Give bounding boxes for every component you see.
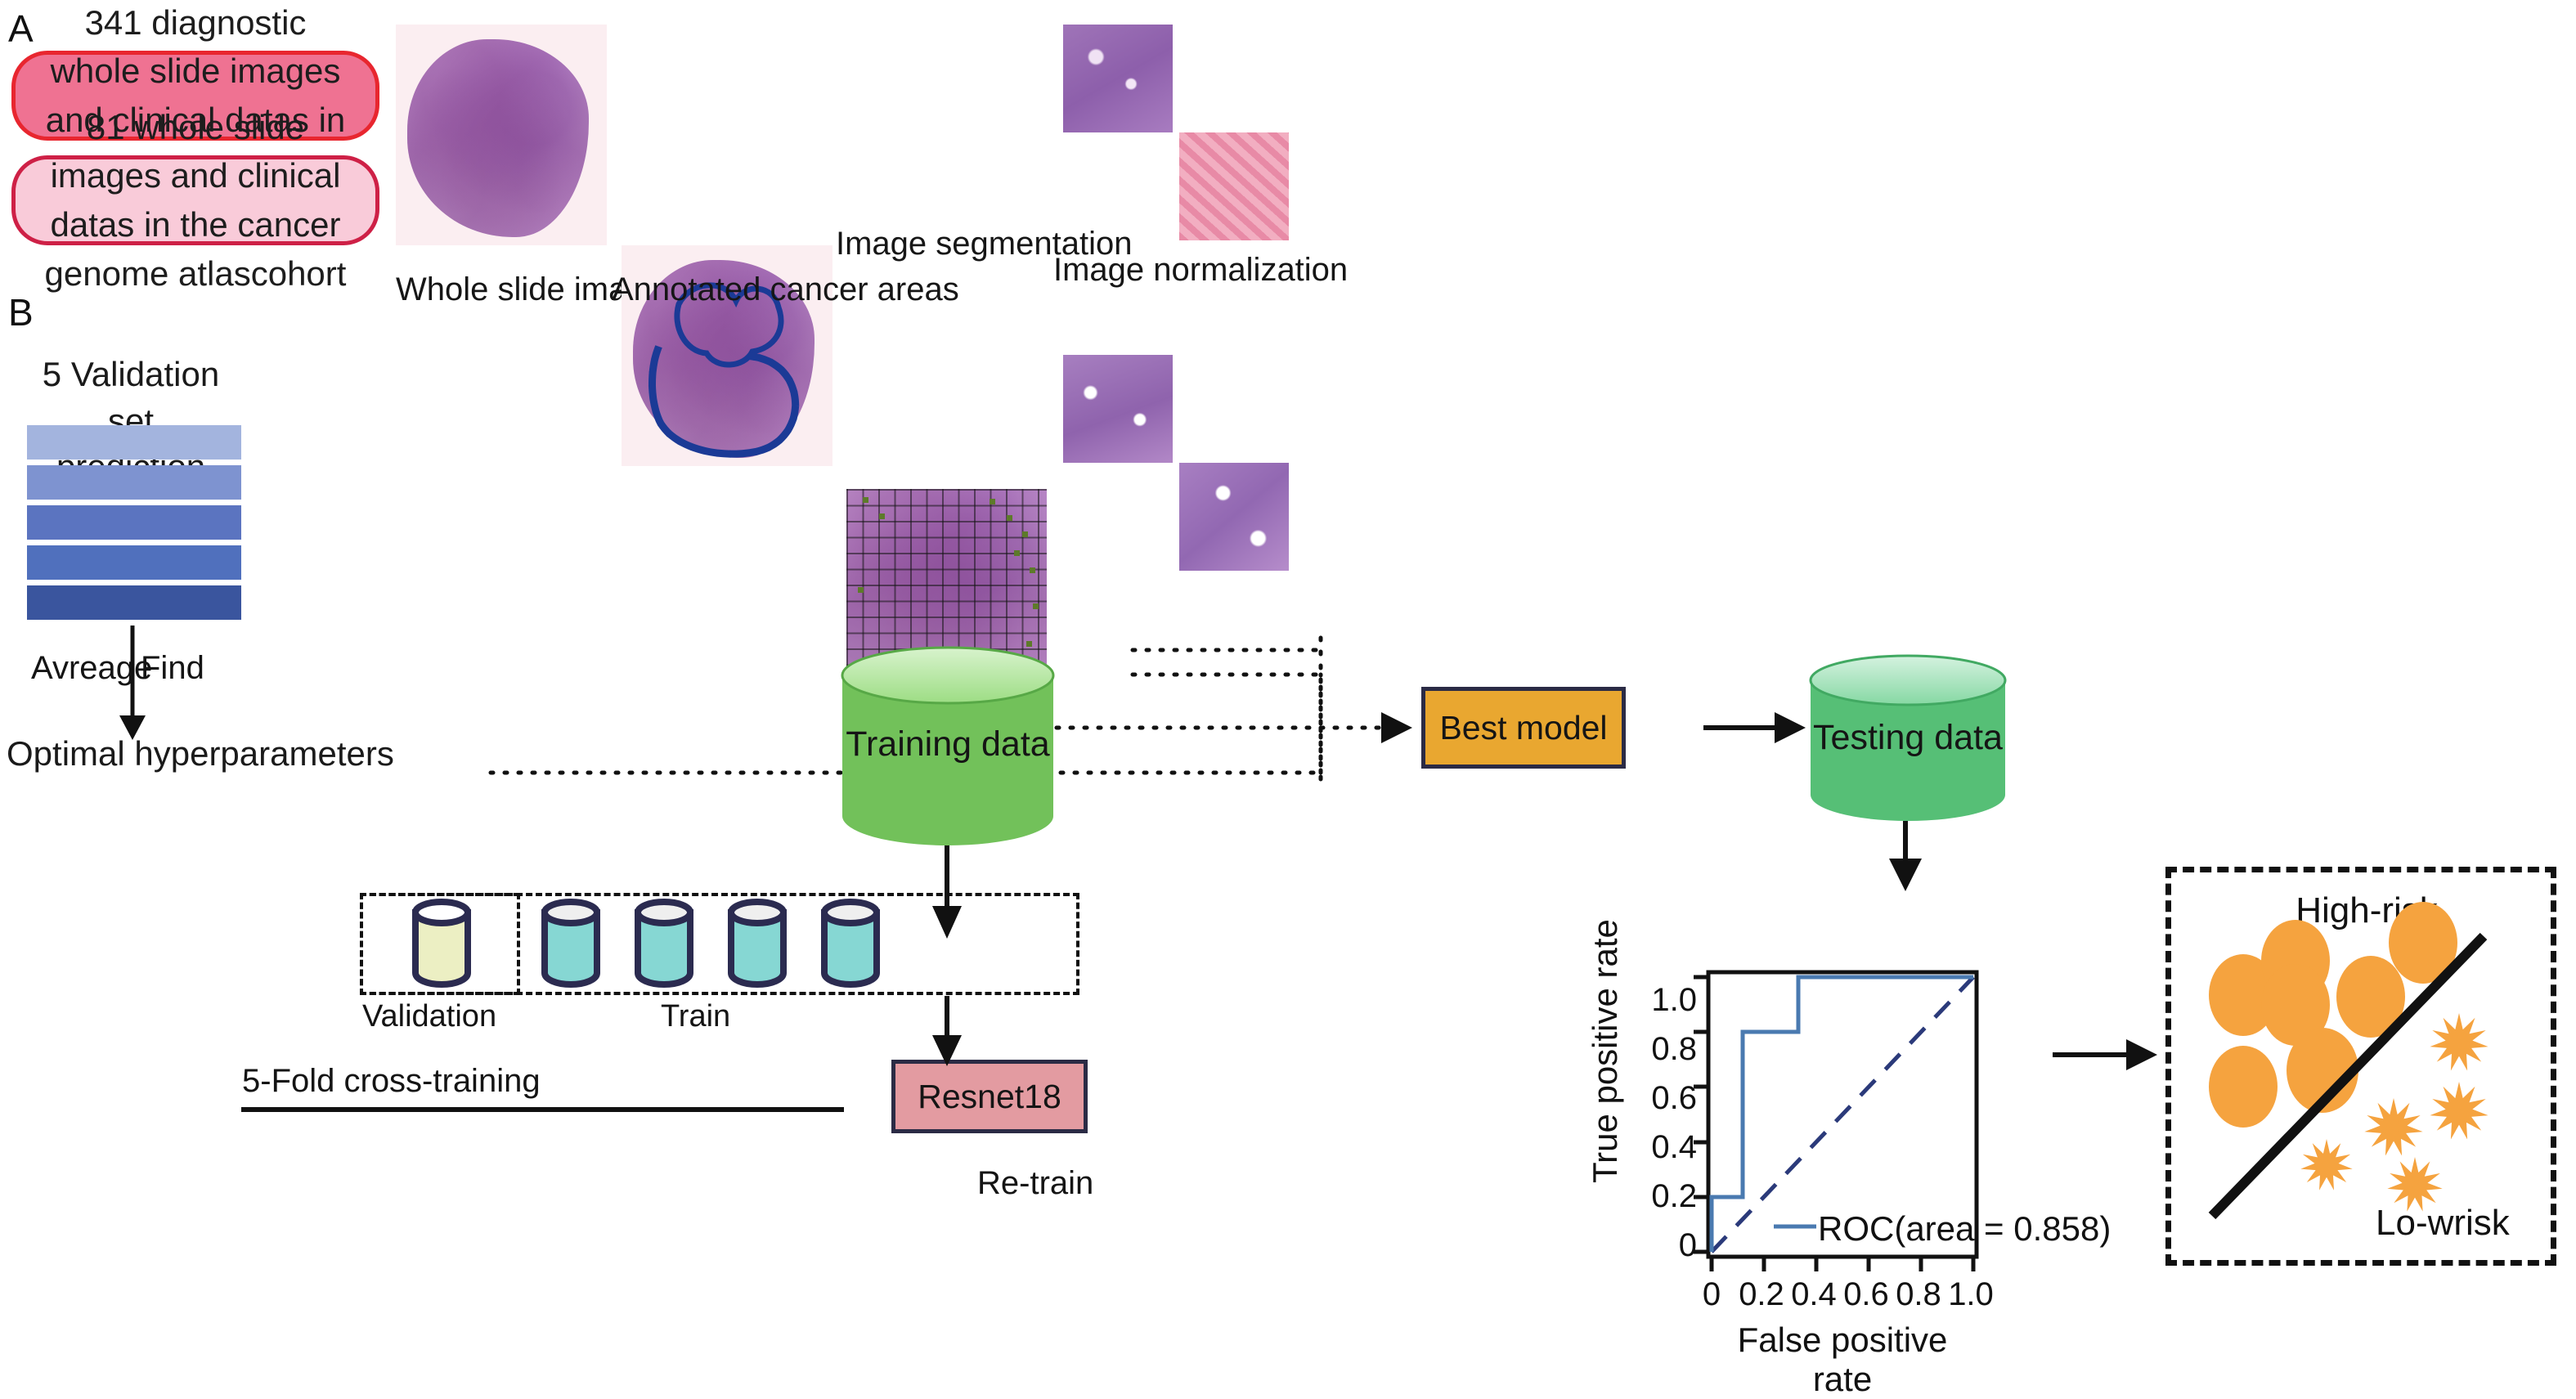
training-data-label: Training data bbox=[837, 724, 1058, 765]
risk-ellipse bbox=[2209, 1046, 2278, 1128]
roc-xtick-0: 0 bbox=[1692, 1276, 1731, 1313]
roc-xtick-1.0: 1.0 bbox=[1947, 1276, 1995, 1313]
resnet18-label: Resnet18 bbox=[918, 1078, 1061, 1116]
roc-ytick-0.8: 0.8 bbox=[1625, 1031, 1697, 1068]
testing-data-label: Testing data bbox=[1806, 718, 2010, 758]
roc-x-axis-title: False positive rate bbox=[1707, 1321, 1978, 1399]
best-model-box: Best model bbox=[1421, 687, 1626, 769]
roc-xtick-0.2: 0.2 bbox=[1738, 1276, 1785, 1313]
cross-training-label: 5-Fold cross-training bbox=[242, 1063, 541, 1100]
roc-xtick-0.6: 0.6 bbox=[1842, 1276, 1890, 1313]
low-risk-label: Lo-wrisk bbox=[2376, 1203, 2510, 1244]
roc-chart: True positive rate 1.0 0.8 0.6 0.4 0.2 0 bbox=[1582, 879, 2057, 1271]
train-label: Train bbox=[661, 999, 730, 1034]
best-model-label: Best model bbox=[1439, 709, 1607, 747]
risk-star bbox=[2364, 1098, 2422, 1156]
roc-ytick-0.4: 0.4 bbox=[1625, 1129, 1697, 1166]
resnet-feedback-trunk bbox=[1308, 638, 1341, 785]
train-cylinder-3 bbox=[725, 899, 790, 989]
roc-ytick-0: 0 bbox=[1625, 1227, 1697, 1264]
risk-star bbox=[2430, 1082, 2488, 1140]
roc-ytick-0.2: 0.2 bbox=[1625, 1178, 1697, 1215]
training-data-cylinder: Training data bbox=[837, 646, 1058, 845]
retrain-label: Re-train bbox=[977, 1165, 1093, 1202]
roc-xtick-0.4: 0.4 bbox=[1790, 1276, 1838, 1313]
roc-xtick-0.8: 0.8 bbox=[1895, 1276, 1942, 1313]
roc-legend-label: ROC(area = 0.858) bbox=[1818, 1209, 2111, 1249]
roc-ytick-1.0: 1.0 bbox=[1625, 982, 1697, 1019]
train-cylinder-1 bbox=[538, 899, 604, 989]
train-cylinder-4 bbox=[818, 899, 883, 989]
testing-data-cylinder: Testing data bbox=[1806, 654, 2010, 830]
roc-ytick-0.6: 0.6 bbox=[1625, 1080, 1697, 1117]
validation-cylinder bbox=[409, 899, 474, 989]
resnet18-box: Resnet18 bbox=[891, 1060, 1088, 1133]
roc-y-axis-title: True positive rate bbox=[1586, 919, 1625, 1183]
risk-star bbox=[2430, 1013, 2488, 1071]
train-to-resnet-arrow bbox=[932, 996, 965, 1069]
risk-panel: High-risk Lo-wrisk bbox=[2165, 867, 2556, 1266]
train-cylinder-2 bbox=[631, 899, 697, 989]
risk-star bbox=[2300, 1139, 2352, 1190]
validation-label: Validation bbox=[362, 999, 496, 1034]
